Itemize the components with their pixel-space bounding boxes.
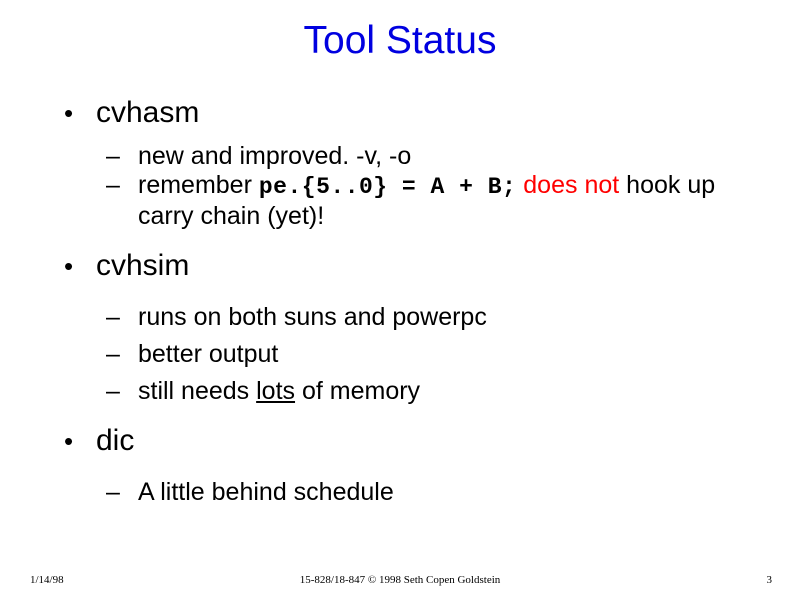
- sub-bullet-text: better output: [138, 340, 278, 368]
- page-title: Tool Status: [0, 18, 800, 64]
- dash-icon: –: [106, 478, 120, 507]
- bullet-label: dic: [96, 424, 134, 457]
- code-snippet: pe.{5..0} = A + B;: [259, 174, 516, 200]
- spacer: [56, 134, 756, 142]
- sub-bullet-runs-on-suns: – runs on both suns and powerpc: [56, 303, 756, 332]
- dash-icon: –: [106, 142, 120, 171]
- bullet-item-cvhasm: • cvhasm: [56, 96, 756, 130]
- spacer: [56, 332, 756, 340]
- emphasis-lots: lots: [256, 377, 295, 405]
- bullet-dot-icon: •: [64, 424, 73, 458]
- bullet-item-cvhsim: • cvhsim: [56, 249, 756, 283]
- sub-bullet-new-and-improved: – new and improved. -v, -o: [56, 142, 756, 171]
- dash-icon: –: [106, 377, 120, 406]
- dash-icon: –: [106, 171, 120, 200]
- sub-bullet-text: runs on both suns and powerpc: [138, 303, 487, 331]
- spacer: [56, 231, 756, 249]
- footer-page-number: 3: [767, 574, 773, 586]
- spacer: [56, 406, 756, 424]
- spacer: [56, 369, 756, 377]
- bullet-item-dic: • dic: [56, 424, 756, 458]
- sub-bullet-still-needs-memory: – still needs lots of memory: [56, 377, 756, 406]
- sub-bullet-text-tail: of memory: [295, 377, 420, 405]
- sub-bullet-text-remember: remember: [138, 171, 259, 199]
- bullet-dot-icon: •: [64, 96, 73, 130]
- sub-bullet-text: new and improved. -v, -o: [138, 142, 411, 170]
- bullet-dot-icon: •: [64, 249, 73, 283]
- slide-footer: 1/14/98 15-828/18-847 © 1998 Seth Copen …: [0, 572, 800, 594]
- bullet-label: cvhasm: [96, 96, 199, 129]
- slide-body: • cvhasm – new and improved. -v, -o – re…: [56, 96, 756, 507]
- emphasis-not: not: [584, 171, 619, 199]
- dash-icon: –: [106, 340, 120, 369]
- footer-copyright: 15-828/18-847 © 1998 Seth Copen Goldstei…: [0, 574, 800, 586]
- sub-bullet-behind-schedule: – A little behind schedule: [56, 478, 756, 507]
- emphasis-does: does: [523, 171, 577, 199]
- sub-bullet-text: A little behind schedule: [138, 478, 394, 506]
- sub-bullet-remember-pe: – remember pe.{5..0} = A + B; does not h…: [56, 171, 756, 231]
- spacer: [56, 287, 756, 303]
- spacer: [56, 462, 756, 478]
- sub-bullet-text-head: still needs: [138, 377, 256, 405]
- slide-canvas: Tool Status • cvhasm – new and improved.…: [0, 0, 800, 600]
- dash-icon: –: [106, 303, 120, 332]
- bullet-label: cvhsim: [96, 249, 189, 282]
- sub-bullet-better-output: – better output: [56, 340, 756, 369]
